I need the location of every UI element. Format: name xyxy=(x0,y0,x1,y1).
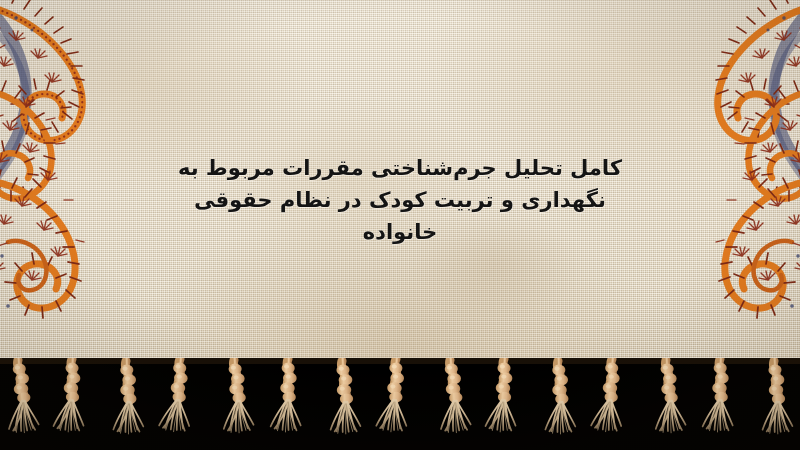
title-block: کامل تحلیل جرم‌شناختی مقررات مربوط به نگ… xyxy=(0,152,800,248)
title-line-2: نگهداری و تربیت کودک در نظام حقوقی xyxy=(0,184,800,216)
title-card-stage: کامل تحلیل جرم‌شناختی مقررات مربوط به نگ… xyxy=(0,0,800,450)
title-line-1: کامل تحلیل جرم‌شناختی مقررات مربوط به xyxy=(0,152,800,184)
knotted-tassel-fringe xyxy=(0,358,800,450)
title-line-3: خانواده xyxy=(0,216,800,248)
